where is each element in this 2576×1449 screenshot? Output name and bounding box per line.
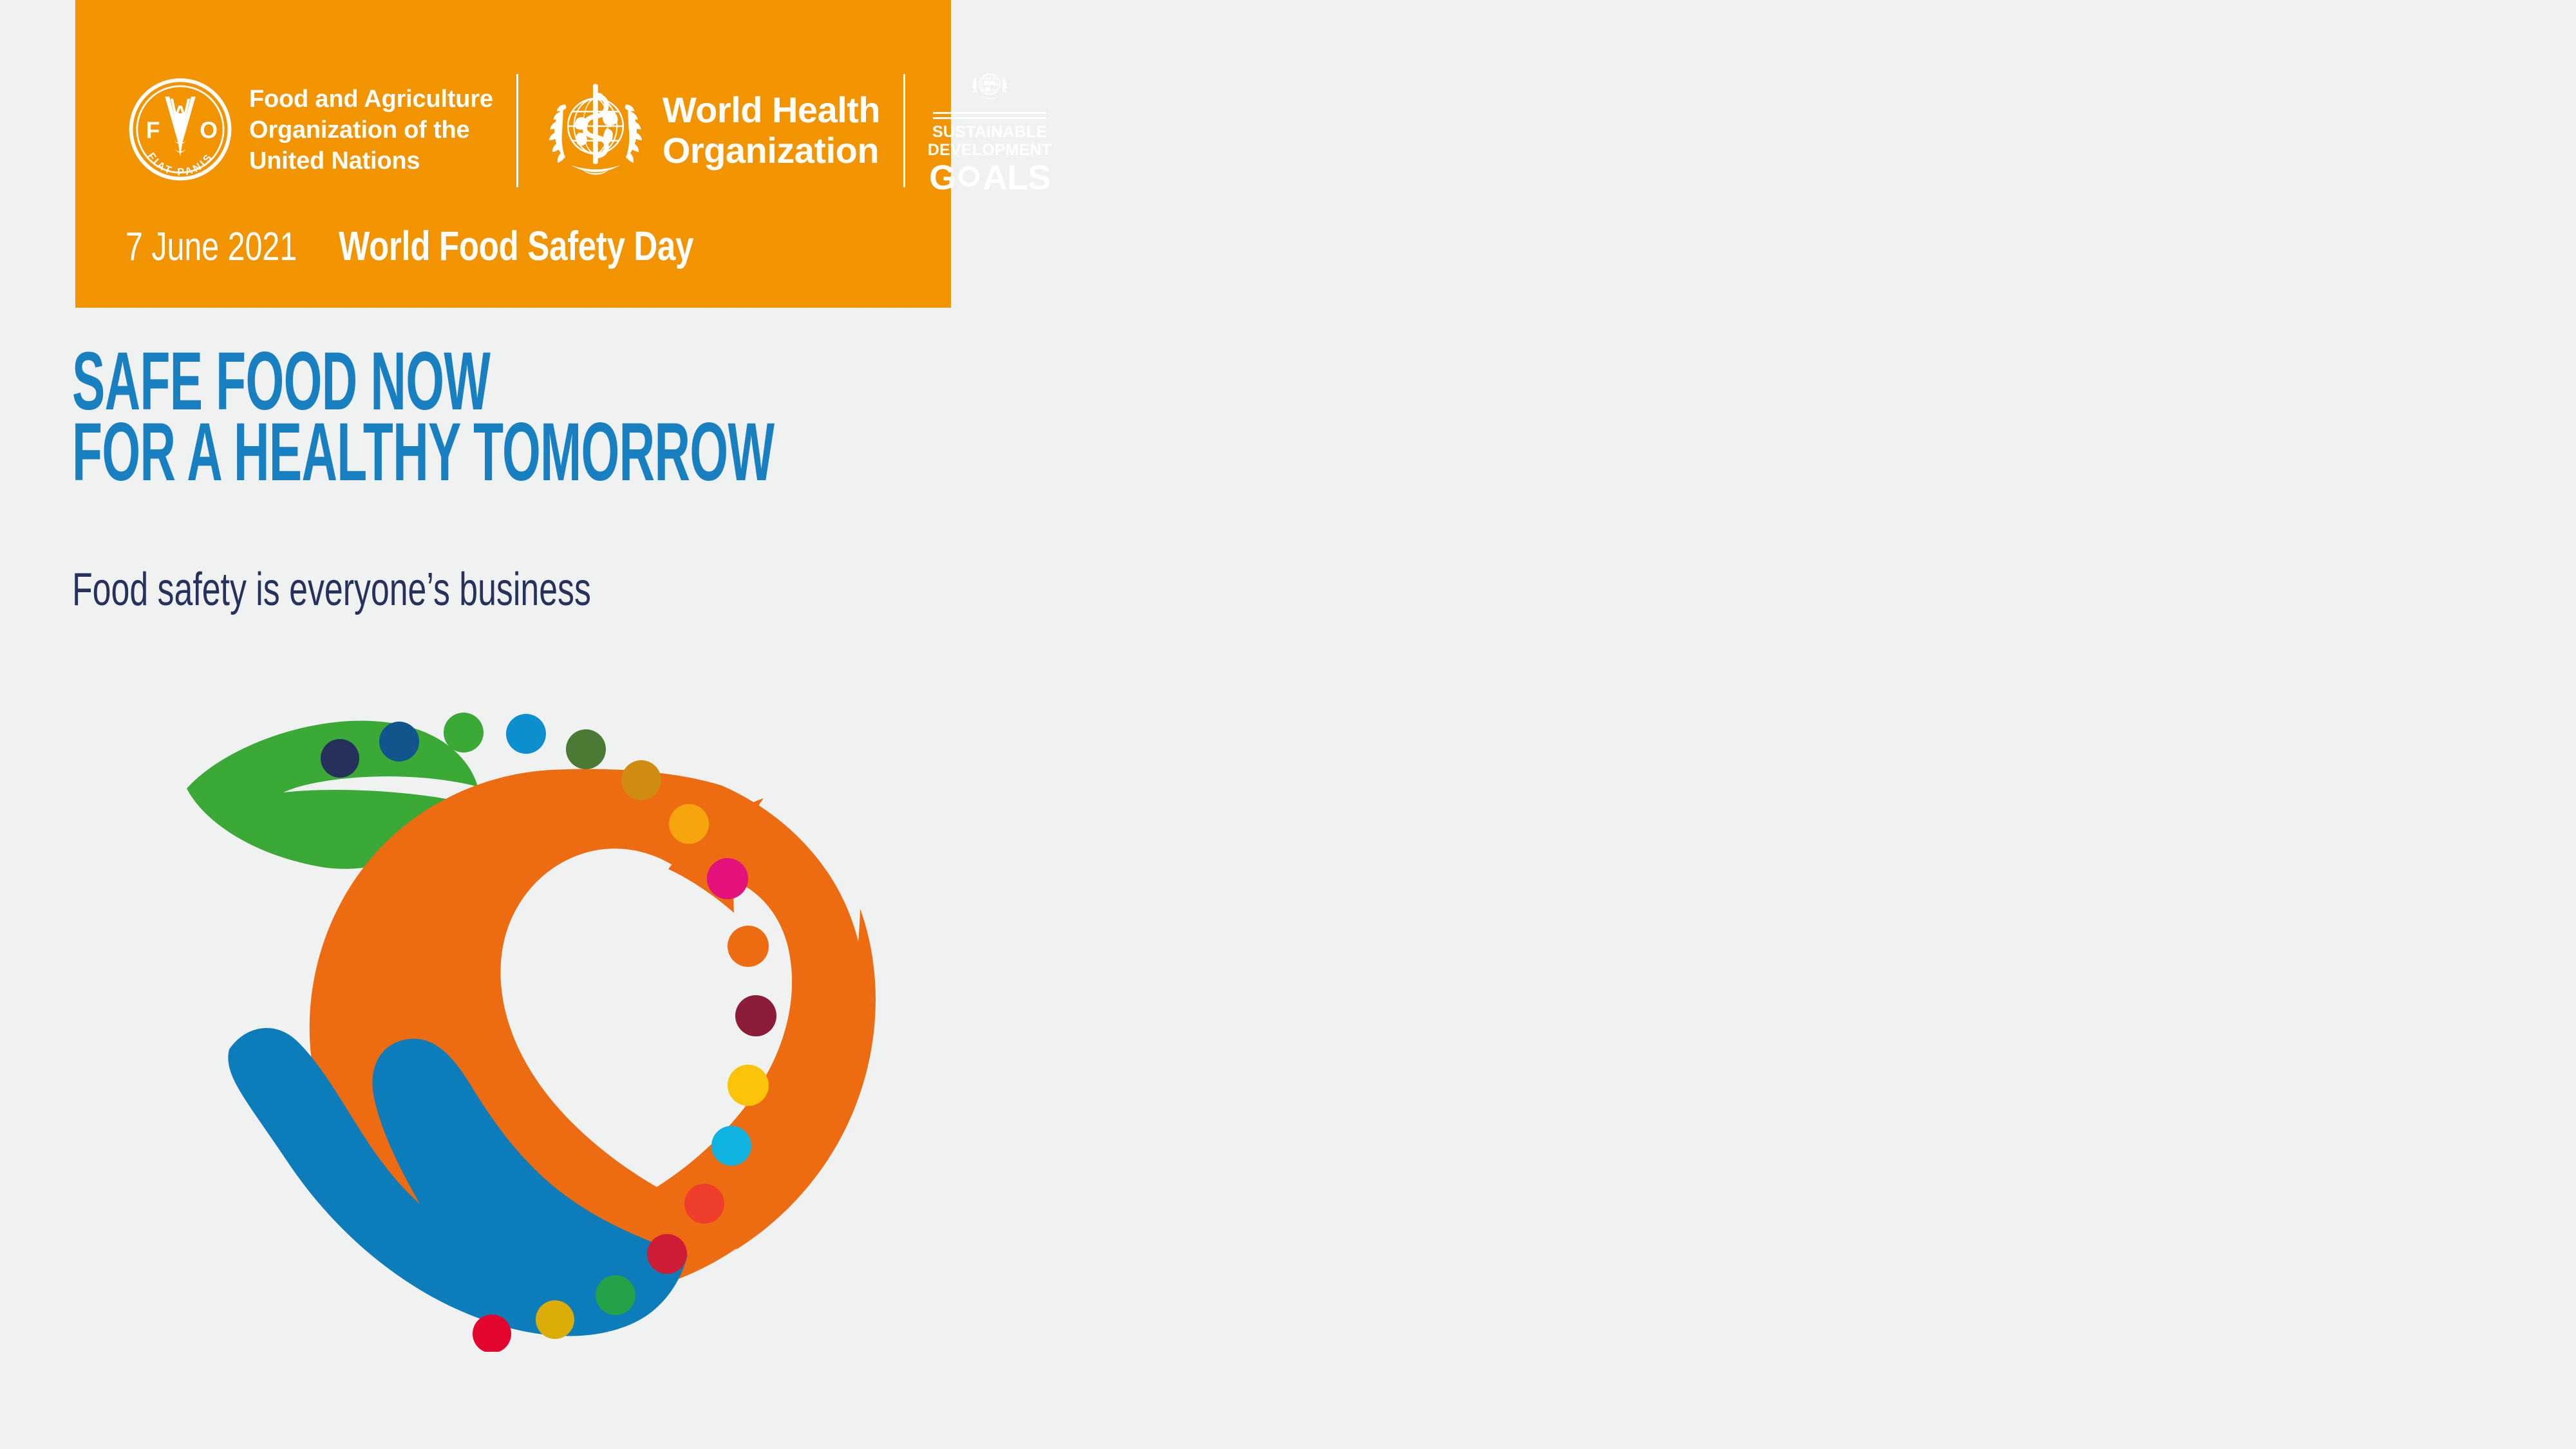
sdg-dot-11 <box>728 1065 769 1106</box>
sdg-goals-row: G <box>929 160 1050 195</box>
sdg-rules <box>933 112 1046 119</box>
co-branding-banner: A F O FIAT PANIS Food and Agriculture O <box>75 0 951 308</box>
sdg-text-line-1: SUSTAINABLE <box>928 124 1052 142</box>
sdg-text-line-2: DEVELOPMENT <box>928 142 1052 160</box>
who-emblem-icon <box>541 75 650 187</box>
who-logo: World Health Organization <box>541 70 880 192</box>
svg-text:A: A <box>174 102 187 123</box>
who-text-line-1: World Health <box>663 90 880 131</box>
sdg-dot-13 <box>684 1184 724 1224</box>
sdg-logo: SUSTAINABLE DEVELOPMENT G <box>928 66 1051 195</box>
sdg-dot-6 <box>621 760 661 800</box>
sdg-wordmark: SUSTAINABLE DEVELOPMENT <box>928 124 1052 159</box>
banner-event-title: World Food Safety Day <box>339 222 693 270</box>
logo-divider-2 <box>903 74 905 187</box>
sdg-dot-8 <box>707 858 748 899</box>
sdg-dot-14 <box>647 1234 687 1274</box>
un-emblem-icon <box>966 66 1013 108</box>
sdg-dot-9 <box>728 926 769 967</box>
banner-date: 7 June 2021 <box>126 224 297 270</box>
fao-text-line-2: Organization of the <box>249 115 493 146</box>
sdg-dot-4 <box>506 714 546 754</box>
page-headline: SAFE FOOD NOW FOR A HEALTHY TOMORROW <box>72 346 774 488</box>
sdg-dot-2 <box>379 722 419 762</box>
sdg-goals-g: G <box>929 160 955 195</box>
svg-text:O: O <box>200 117 218 143</box>
banner-title-line: 7 June 2021 World Food Safety Day <box>126 222 782 270</box>
logo-divider-1 <box>516 74 518 187</box>
who-logo-text: World Health Organization <box>663 90 880 171</box>
headline-line-2: FOR A HEALTHY TOMORROW <box>72 417 774 488</box>
sdg-dot-5 <box>566 729 606 769</box>
sdg-dot-10 <box>735 995 776 1036</box>
sdg-dot-1 <box>321 739 359 778</box>
fao-emblem-icon: A F O FIAT PANIS <box>126 75 235 187</box>
sdg-dot-3 <box>444 713 484 753</box>
world-food-safety-day-emblem <box>187 708 998 1352</box>
sdg-dot-16 <box>536 1300 574 1339</box>
who-text-line-2: Organization <box>663 131 880 171</box>
fao-logo: A F O FIAT PANIS Food and Agriculture O <box>126 70 493 192</box>
logo-strip: A F O FIAT PANIS Food and Agriculture O <box>126 70 1051 192</box>
fao-text-line-1: Food and Agriculture <box>249 84 493 115</box>
sdg-color-wheel-icon <box>956 160 982 195</box>
sdg-dot-15 <box>596 1275 635 1315</box>
fao-logo-text: Food and Agriculture Organization of the… <box>249 84 493 177</box>
page-tagline: Food safety is everyone’s business <box>72 566 591 613</box>
sdg-goals-als: ALS <box>982 160 1050 195</box>
sdg-dot-12 <box>711 1126 751 1166</box>
sdg-dot-7 <box>669 804 709 844</box>
fao-text-line-3: United Nations <box>249 146 493 177</box>
svg-text:F: F <box>146 117 160 143</box>
sdg-dot-17 <box>473 1314 511 1352</box>
